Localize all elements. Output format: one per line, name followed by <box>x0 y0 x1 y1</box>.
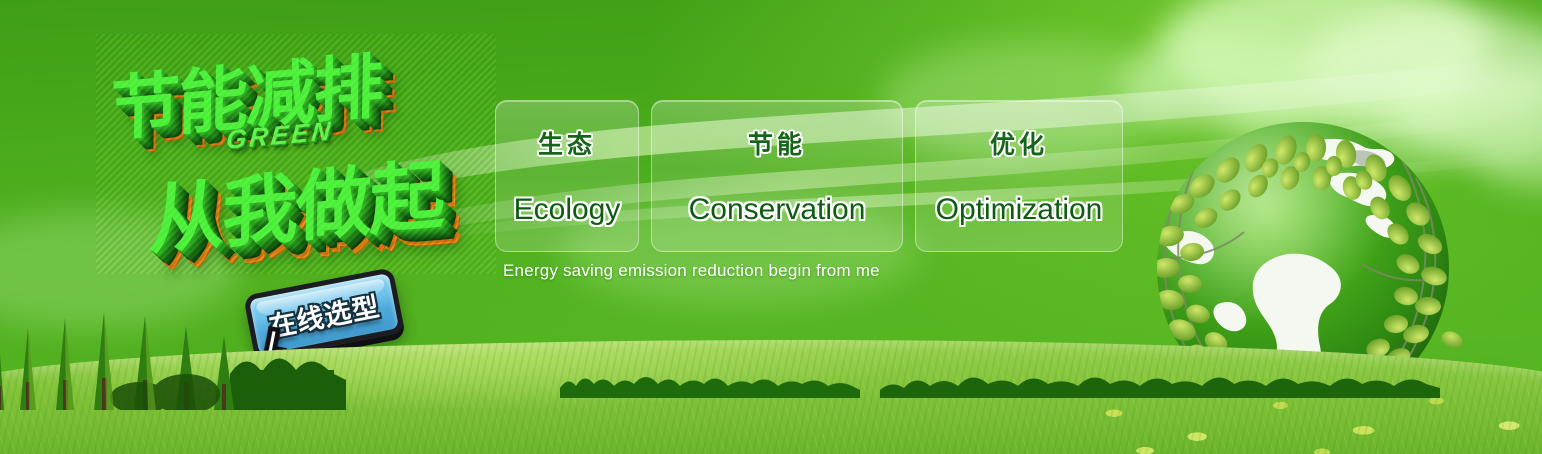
feature-card-ecology[interactable]: 生态 Ecology <box>495 100 639 252</box>
feature-card-title-cn: 节能 <box>748 125 806 161</box>
cloud-shape <box>1470 120 1542 190</box>
feature-card-title-en: Conservation <box>689 193 866 227</box>
cloud-shape <box>1160 0 1490 122</box>
feature-card-conservation[interactable]: 节能 Conservation <box>651 100 903 252</box>
hero-headline: 节能减排 GREEN 从我做起 <box>96 34 496 274</box>
feature-card-list: 生态 Ecology 节能 Conservation 优化 Optimizati… <box>495 100 1123 252</box>
feature-card-optimization[interactable]: 优化 Optimization <box>915 100 1123 252</box>
grass-field <box>0 340 1542 454</box>
feature-card-title-en: Optimization <box>936 193 1103 227</box>
cloud-shape <box>0 210 240 330</box>
headline-texture-overlay <box>96 34 496 274</box>
headline-accent: GREEN <box>225 115 335 156</box>
feature-card-title-cn: 优化 <box>990 125 1048 161</box>
green-energy-banner: 节能减排 GREEN 从我做起 生态 Ecology 节能 Conservati… <box>0 0 1542 454</box>
headline-line-2: 从我做起 <box>148 133 445 269</box>
headline-line-1: 节能减排 <box>110 30 383 155</box>
banner-tagline: Energy saving emission reduction begin f… <box>503 261 880 281</box>
feature-card-title-en: Ecology <box>514 193 621 227</box>
leaf-litter-decoration <box>1062 382 1542 454</box>
feature-card-title-cn: 生态 <box>538 125 596 161</box>
